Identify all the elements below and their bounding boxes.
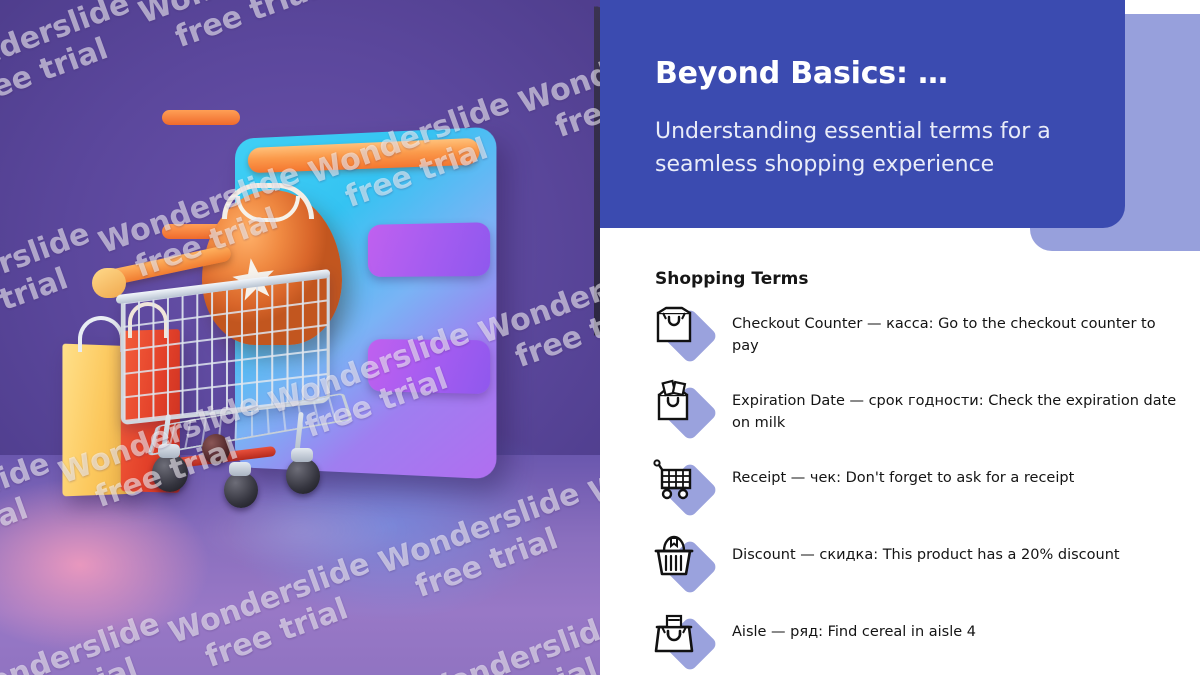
watermark-text: Wonderslidefree trial [134,0,356,65]
watermark-line-2: free trial [486,279,600,384]
term-icon-container [650,531,716,591]
content-panel: Beyond Basics: … Understanding essential… [600,0,1200,675]
header-card [600,0,1125,228]
term-list-item: Aisle — ряд: Find cereal in aisle 4 [650,606,1180,674]
shopping-cart-3d [106,246,406,496]
cart-wheel-1 [152,454,188,492]
term-list-item: Checkout Counter — касса: Go to the chec… [650,298,1180,366]
watermark-line-1: Wonderslide [0,0,135,91]
shopping-bag-full-icon [650,377,698,425]
illustration-panel: Wonderslidefree trialWonderslidefree tri… [0,0,600,675]
page-subtitle: Understanding essential terms for a seam… [655,116,1075,181]
section-heading: Shopping Terms [655,269,808,289]
term-icon-container [650,300,716,360]
watermark-text: Wonderslidefree trial [0,0,147,125]
cart-wheel-cap-2 [229,462,251,476]
watermark-text: Wonderslidefree trial [514,16,600,155]
browser-titlebar [248,138,480,173]
watermark-line-2: free trial [146,0,356,65]
term-list-item: Receipt — чек: Don't forget to ask for a… [650,452,1180,520]
term-description: Receipt — чек: Don't forget to ask for a… [716,452,1180,490]
browser-pill-1 [162,110,240,125]
shopping-bag-icon [650,300,698,348]
watermark-line-1: Wonderslide [0,216,95,321]
page-title: Beyond Basics: … [655,56,948,91]
term-description: Checkout Counter — касса: Go to the chec… [716,298,1180,358]
cart-wheel-cap-1 [158,444,180,458]
cart-wheel-2 [224,472,258,508]
cart-wheel-rear [202,434,230,464]
handbag-icon [650,608,698,656]
watermark-line-2: free trial [0,19,147,124]
term-list-item: Expiration Date — срок годности: Check t… [650,375,1180,443]
term-description: Expiration Date — срок годности: Check t… [716,375,1180,435]
watermark-line-2: free trial [526,49,600,154]
cart-wheel-3 [286,458,320,494]
term-icon-container [650,377,716,437]
term-icon-container [650,454,716,514]
term-description: Discount — скидка: This product has a 20… [716,529,1180,567]
term-list-item: Discount — скидка: This product has a 20… [650,529,1180,597]
watermark-line-1: Wonderslide [514,16,600,121]
cart-wheel-cap-3 [291,448,313,462]
term-icon-container [650,608,716,668]
shopping-cart-icon [650,454,698,502]
shopping-basket-icon [650,531,698,579]
slide-canvas: Wonderslidefree trialWonderslidefree tri… [0,0,1200,675]
term-description: Aisle — ряд: Find cereal in aisle 4 [716,606,1180,644]
watermark-line-1: Wonderslide [134,0,344,31]
terms-list: Checkout Counter — касса: Go to the chec… [650,298,1180,675]
